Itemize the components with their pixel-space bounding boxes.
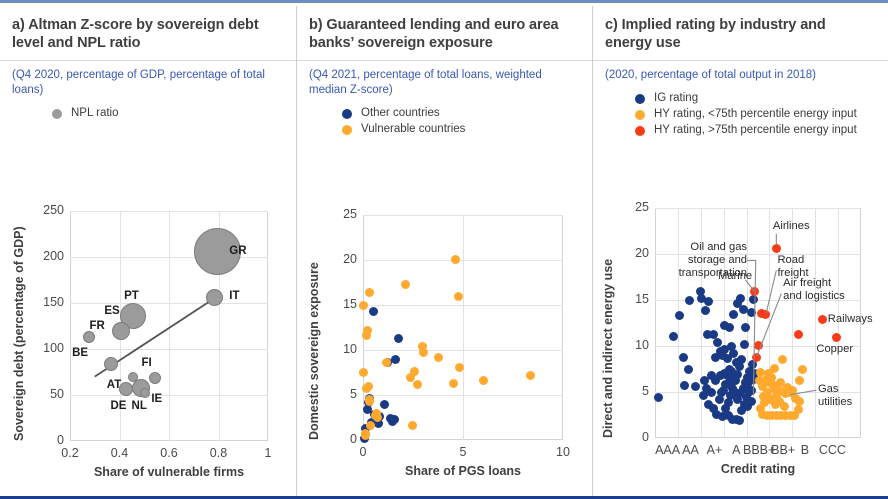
data-point[interactable]	[451, 255, 460, 264]
chart-a-x-axis-title: Share of vulnerable firms	[94, 465, 244, 479]
legend-swatch-icon	[342, 125, 352, 135]
annotation-air-freight: Air freight and logistics	[783, 277, 845, 303]
data-point[interactable]	[691, 382, 700, 391]
legend-swatch-icon	[342, 109, 352, 119]
chart-b-gridline-v	[463, 215, 464, 440]
bubble-fr[interactable]	[83, 331, 95, 343]
data-point[interactable]	[702, 384, 711, 393]
chart-a-gridline-v	[169, 211, 170, 441]
country-label-at: AT	[107, 379, 121, 391]
data-point[interactable]	[780, 402, 789, 411]
chart-a-y-tick: 250	[26, 203, 64, 217]
legend-swatch-icon	[635, 110, 645, 120]
chart-c-gridline-v	[792, 208, 793, 438]
data-point[interactable]	[382, 358, 391, 367]
legend-swatch-icon	[635, 94, 645, 104]
chart-b-x-tick: 5	[433, 445, 493, 459]
chart-b-y-axis-title: Domestic sovereign exposure	[307, 262, 321, 440]
data-point[interactable]	[359, 301, 368, 310]
data-point[interactable]	[413, 380, 422, 389]
chart-b-y-tick: 20	[319, 252, 357, 266]
chart-c-canvas: 0510152025AAAAAA+ABBB+BB+BCCCCredit rati…	[593, 198, 888, 493]
data-point[interactable]	[715, 395, 724, 404]
legend-item[interactable]: Other countries	[297, 106, 592, 121]
chart-a-y-tick: 200	[26, 249, 64, 263]
chart-c-y-tick: 0	[611, 430, 649, 444]
data-point[interactable]	[754, 341, 763, 350]
data-point[interactable]	[756, 404, 765, 413]
data-point[interactable]	[741, 323, 750, 332]
panel-c-title: c) Implied rating by industry and energy…	[593, 6, 888, 52]
panel-a-title: a) Altman Z-score by sovereign debt leve…	[0, 6, 296, 52]
data-point[interactable]	[369, 307, 378, 316]
panel-c: c) Implied rating by industry and energy…	[592, 6, 888, 499]
chart-a-y-tick: 50	[26, 387, 64, 401]
panel-a: a) Altman Z-score by sovereign debt leve…	[0, 6, 296, 499]
chart-a-y-tick: 100	[26, 341, 64, 355]
data-point[interactable]	[654, 393, 663, 402]
annotation-railways: Railways	[828, 313, 873, 326]
data-point[interactable]	[526, 371, 535, 380]
panel-c-legend: IG ratingHY rating, <75th percentile ene…	[593, 83, 888, 138]
country-label-pt: PT	[124, 290, 139, 302]
data-point[interactable]	[794, 330, 803, 339]
data-point[interactable]	[675, 311, 684, 320]
chart-c-gridline-v	[815, 208, 816, 438]
chart-b-canvas: 05101520250510Share of PGS loansDomestic…	[297, 203, 593, 493]
legend-label: Other countries	[361, 106, 440, 121]
data-point[interactable]	[408, 421, 417, 430]
country-label-de: DE	[111, 400, 127, 412]
chart-c-y-tick: 20	[611, 246, 649, 260]
legend-label: IG rating	[654, 91, 698, 106]
country-label-es: ES	[104, 305, 119, 317]
bubble-be[interactable]	[104, 357, 118, 371]
chart-b-y-tick: 15	[319, 297, 357, 311]
chart-b-y-tick: 25	[319, 207, 357, 221]
annotation-gas: Gas utilities	[818, 383, 852, 409]
legend-item[interactable]: NPL ratio	[0, 106, 296, 121]
legend-swatch-icon	[52, 109, 62, 119]
data-point[interactable]	[818, 315, 827, 324]
chart-a-y-axis-title: Sovereign debt (percentage of GDP)	[12, 226, 26, 441]
chart-a-y-tick: 150	[26, 295, 64, 309]
chart-a-y-tick: 0	[26, 433, 64, 447]
country-label-nl: NL	[132, 400, 147, 412]
data-point[interactable]	[406, 373, 415, 382]
chart-b-y-tick: 10	[319, 342, 357, 356]
legend-swatch-icon	[635, 126, 645, 136]
data-point[interactable]	[747, 386, 756, 395]
panel-c-subtitle: (2020, percentage of total output in 201…	[593, 61, 888, 83]
chart-c-y-tick: 15	[611, 292, 649, 306]
country-label-gr: GR	[229, 245, 246, 257]
chart-c-y-tick: 10	[611, 338, 649, 352]
data-point[interactable]	[794, 405, 803, 414]
annotation-copper: Copper	[816, 343, 853, 356]
legend-label: Vulnerable countries	[361, 122, 465, 137]
data-point[interactable]	[747, 308, 756, 317]
chart-b-y-tick: 0	[319, 432, 357, 446]
chart-a-canvas: 0501001502002500.20.40.60.81Share of vul…	[0, 193, 296, 493]
chart-c-x-tick: CCC	[802, 443, 862, 457]
annotation-airlines: Airlines	[773, 220, 810, 233]
data-point[interactable]	[401, 280, 410, 289]
chart-b-x-tick: 0	[333, 445, 393, 459]
legend-item[interactable]: HY rating, <75th percentile energy input	[593, 107, 888, 122]
data-point[interactable]	[736, 294, 745, 303]
panel-b-title: b) Guaranteed lending and euro area bank…	[297, 6, 592, 52]
data-point[interactable]	[390, 415, 399, 424]
data-point[interactable]	[434, 353, 443, 362]
data-point[interactable]	[795, 397, 804, 406]
figure-root: a) Altman Z-score by sovereign debt leve…	[0, 0, 888, 499]
chart-c-gridline-h	[655, 208, 861, 209]
chart-c-y-tick: 5	[611, 384, 649, 398]
country-label-fi: FI	[141, 357, 151, 369]
legend-item[interactable]: HY rating, >75th percentile energy input	[593, 123, 888, 138]
data-point[interactable]	[359, 368, 368, 377]
country-label-ie: IE	[151, 393, 162, 405]
chart-b-y-tick: 5	[319, 387, 357, 401]
panel-b-subtitle: (Q4 2021, percentage of total loans, wei…	[297, 61, 592, 98]
data-point[interactable]	[778, 355, 787, 364]
panel-b-plot-area: 05101520250510Share of PGS loansDomestic…	[297, 203, 592, 493]
data-point[interactable]	[449, 379, 458, 388]
legend-item[interactable]: Vulnerable countries	[297, 122, 592, 137]
data-point[interactable]	[365, 288, 374, 297]
bubble-es[interactable]	[112, 322, 130, 340]
legend-label: NPL ratio	[71, 106, 119, 121]
panel-a-legend: NPL ratio	[0, 98, 296, 121]
legend-item[interactable]: IG rating	[593, 91, 888, 106]
data-point[interactable]	[373, 413, 382, 422]
data-point[interactable]	[380, 400, 389, 409]
data-point[interactable]	[362, 331, 371, 340]
data-point[interactable]	[454, 292, 463, 301]
chart-b-x-axis-title: Share of PGS loans	[405, 464, 521, 478]
chart-b-x-tick: 10	[533, 445, 593, 459]
data-point[interactable]	[752, 353, 761, 362]
bubble-fi[interactable]	[149, 372, 161, 384]
panel-b: b) Guaranteed lending and euro area bank…	[296, 6, 592, 499]
annotation-marine: Marine	[718, 270, 752, 283]
data-point[interactable]	[761, 310, 770, 319]
panel-a-subtitle: (Q4 2020, percentage of GDP, percentage …	[0, 61, 296, 98]
data-point[interactable]	[455, 363, 464, 372]
data-point[interactable]	[727, 342, 736, 351]
panel-b-legend: Other countriesVulnerable countries	[297, 98, 592, 137]
legend-label: HY rating, >75th percentile energy input	[654, 123, 857, 138]
country-label-fr: FR	[89, 320, 104, 332]
chart-c-y-axis-title: Direct and indirect energy use	[601, 259, 615, 438]
country-label-be: BE	[72, 347, 88, 359]
data-point[interactable]	[361, 431, 370, 440]
legend-label: HY rating, <75th percentile energy input	[654, 107, 857, 122]
data-point[interactable]	[679, 353, 688, 362]
data-point[interactable]	[419, 348, 428, 357]
panel-c-plot-area: 0510152025AAAAAA+ABBB+BB+BCCCCredit rati…	[593, 198, 888, 493]
data-point[interactable]	[391, 355, 400, 364]
chart-a-x-tick: 1	[238, 446, 298, 460]
panel-a-plot-area: 0501001502002500.20.40.60.81Share of vul…	[0, 193, 296, 493]
data-point[interactable]	[394, 334, 403, 343]
data-point[interactable]	[479, 376, 488, 385]
data-point[interactable]	[772, 244, 781, 253]
data-point[interactable]	[740, 340, 749, 349]
country-label-it: IT	[229, 290, 239, 302]
chart-c-y-tick: 25	[611, 200, 649, 214]
data-point[interactable]	[685, 296, 694, 305]
data-point[interactable]	[732, 358, 741, 367]
chart-c-x-axis-title: Credit rating	[721, 462, 795, 476]
data-point[interactable]	[701, 306, 710, 315]
